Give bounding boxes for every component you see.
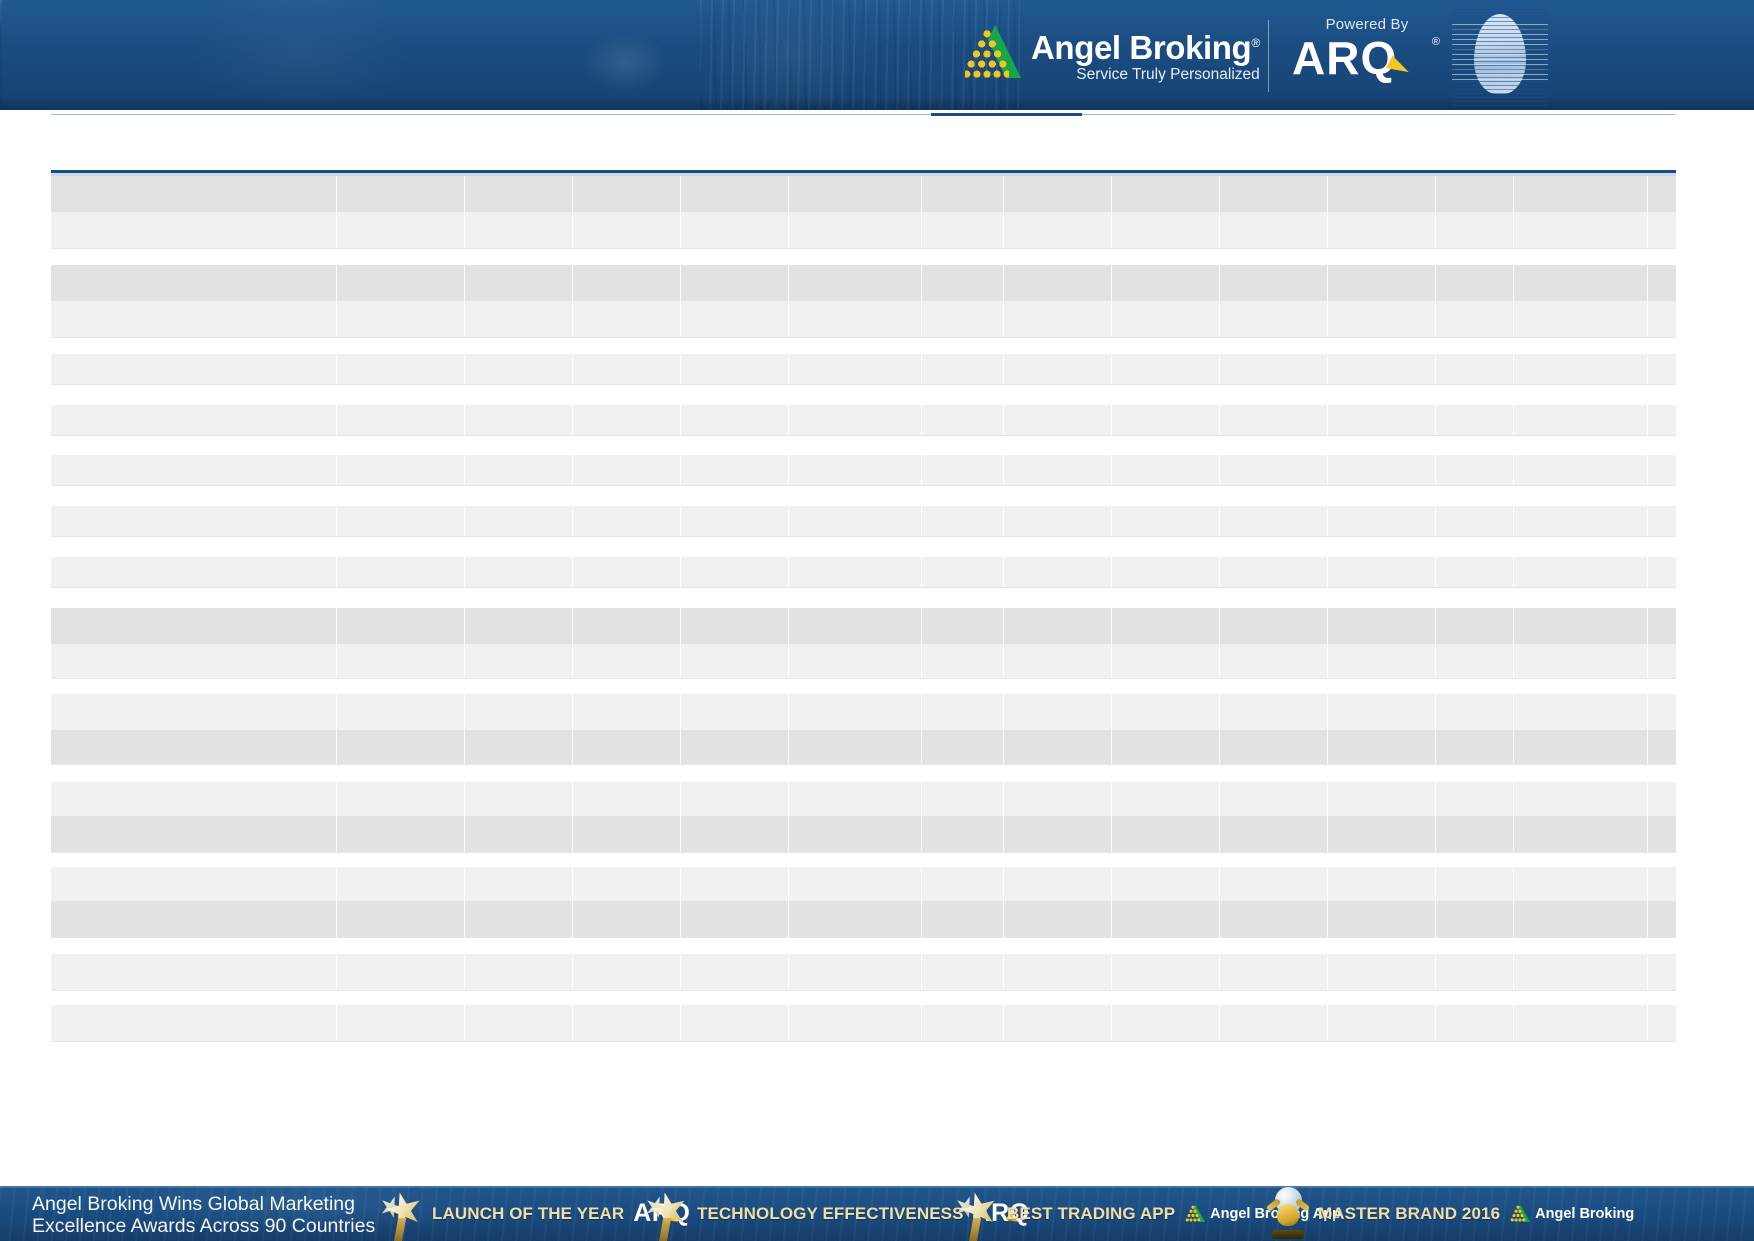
table-row[interactable]: [51, 176, 1676, 212]
table-cell[interactable]: [573, 644, 681, 678]
table-cell[interactable]: [573, 816, 681, 852]
table-cell[interactable]: [681, 901, 789, 937]
table-cell[interactable]: [1112, 1005, 1220, 1041]
table-cell[interactable]: [337, 301, 465, 337]
table-cell[interactable]: [51, 901, 337, 937]
table-cell[interactable]: [1220, 455, 1328, 485]
table-cell[interactable]: [681, 176, 789, 212]
table-cell[interactable]: [1112, 730, 1220, 764]
table-cell[interactable]: [789, 212, 922, 248]
table-cell[interactable]: [1648, 867, 1754, 901]
table-cell[interactable]: [922, 730, 1004, 764]
table-cell[interactable]: [51, 176, 337, 212]
table-cell[interactable]: [922, 782, 1004, 816]
table-cell[interactable]: [1220, 354, 1328, 384]
table-row[interactable]: [51, 265, 1676, 301]
table-cell[interactable]: [1004, 506, 1112, 536]
table-cell[interactable]: [1220, 694, 1328, 730]
table-cell[interactable]: [1648, 730, 1754, 764]
table-cell[interactable]: [573, 608, 681, 644]
table-cell[interactable]: [1112, 455, 1220, 485]
table-cell[interactable]: [1220, 901, 1328, 937]
table-cell[interactable]: [681, 212, 789, 248]
table-cell[interactable]: [1112, 354, 1220, 384]
table-cell[interactable]: [573, 954, 681, 990]
table-row[interactable]: [51, 557, 1676, 587]
header-divider: [1268, 20, 1269, 92]
table-cell[interactable]: [1648, 301, 1754, 337]
table-cell[interactable]: [465, 644, 573, 678]
table-cell[interactable]: [465, 557, 573, 587]
table-cell[interactable]: [573, 301, 681, 337]
table-cell[interactable]: [1328, 730, 1436, 764]
table-cell[interactable]: [1648, 901, 1754, 937]
table-cell[interactable]: [789, 455, 922, 485]
table-row[interactable]: [51, 782, 1676, 816]
table-cell[interactable]: [573, 901, 681, 937]
table-cell[interactable]: [922, 557, 1004, 587]
table-cell[interactable]: [465, 1005, 573, 1041]
table-cell[interactable]: [1004, 901, 1112, 937]
table-cell[interactable]: [1220, 867, 1328, 901]
table-cell[interactable]: [465, 265, 573, 301]
table-cell[interactable]: [1112, 816, 1220, 852]
table-cell[interactable]: [922, 455, 1004, 485]
table-cell[interactable]: [922, 354, 1004, 384]
table-cell[interactable]: [1436, 816, 1514, 852]
arq-wordmark: ARQ ®: [1292, 34, 1442, 82]
table-cell[interactable]: [1004, 301, 1112, 337]
table-cell[interactable]: [51, 301, 337, 337]
table-cell[interactable]: [1220, 212, 1328, 248]
table-cell[interactable]: [465, 730, 573, 764]
table-row-underline: [51, 536, 1676, 537]
table-cell[interactable]: [1220, 816, 1328, 852]
table-row-underline: [51, 990, 1676, 991]
table-cell[interactable]: [1328, 506, 1436, 536]
table-cell[interactable]: [1648, 644, 1754, 678]
table-cell[interactable]: [1112, 644, 1220, 678]
table-row[interactable]: [51, 954, 1676, 990]
table-cell[interactable]: [465, 405, 573, 435]
table-cell[interactable]: [337, 557, 465, 587]
table-cell[interactable]: [1648, 265, 1754, 301]
table-cell[interactable]: [1436, 506, 1514, 536]
table-cell[interactable]: [1328, 557, 1436, 587]
table-cell[interactable]: [789, 608, 922, 644]
table-cell[interactable]: [1112, 506, 1220, 536]
table-cell[interactable]: [1436, 694, 1514, 730]
table-cell[interactable]: [337, 730, 465, 764]
table-cell[interactable]: [1436, 301, 1514, 337]
table-cell[interactable]: [1648, 176, 1754, 212]
table-row[interactable]: [51, 867, 1676, 901]
table-cell[interactable]: [681, 782, 789, 816]
table-cell[interactable]: [1004, 265, 1112, 301]
table-cell[interactable]: [573, 557, 681, 587]
table-cell[interactable]: [51, 265, 337, 301]
table-cell[interactable]: [1514, 506, 1648, 536]
table-row[interactable]: [51, 608, 1676, 644]
table-cell[interactable]: [573, 354, 681, 384]
table-cell[interactable]: [1514, 816, 1648, 852]
table-cell[interactable]: [922, 1005, 1004, 1041]
table-cell[interactable]: [1436, 557, 1514, 587]
table-cell[interactable]: [1220, 557, 1328, 587]
table-row[interactable]: [51, 901, 1676, 937]
table-cell[interactable]: [1436, 644, 1514, 678]
table-cell[interactable]: [573, 212, 681, 248]
table-cell[interactable]: [337, 867, 465, 901]
table-cell[interactable]: [1328, 608, 1436, 644]
table-cell[interactable]: [1514, 212, 1648, 248]
table-cell[interactable]: [465, 782, 573, 816]
table-cell[interactable]: [1328, 782, 1436, 816]
table-cell[interactable]: [1220, 301, 1328, 337]
table-cell[interactable]: [51, 782, 337, 816]
table-cell[interactable]: [1514, 405, 1648, 435]
table-cell[interactable]: [1004, 644, 1112, 678]
table-cell[interactable]: [1328, 405, 1436, 435]
table-cell[interactable]: [1112, 901, 1220, 937]
table-cell[interactable]: [789, 506, 922, 536]
table-cell[interactable]: [1514, 301, 1648, 337]
table-row[interactable]: [51, 694, 1676, 730]
table-cell[interactable]: [51, 954, 337, 990]
table-cell[interactable]: [465, 608, 573, 644]
table-cell[interactable]: [573, 782, 681, 816]
table-cell[interactable]: [922, 644, 1004, 678]
table-cell[interactable]: [789, 354, 922, 384]
table-cell[interactable]: [51, 730, 337, 764]
table-cell[interactable]: [1514, 954, 1648, 990]
table-cell[interactable]: [681, 557, 789, 587]
table-cell[interactable]: [1112, 212, 1220, 248]
table-cell[interactable]: [1514, 644, 1648, 678]
table-cell[interactable]: [1220, 730, 1328, 764]
table-cell[interactable]: [337, 405, 465, 435]
table-cell[interactable]: [1004, 212, 1112, 248]
table-cell[interactable]: [681, 455, 789, 485]
table-cell[interactable]: [1648, 694, 1754, 730]
table-cell[interactable]: [1220, 954, 1328, 990]
table-cell[interactable]: [465, 816, 573, 852]
table-row[interactable]: [51, 212, 1676, 248]
table-cell[interactable]: [51, 557, 337, 587]
table-cell[interactable]: [922, 301, 1004, 337]
table-cell[interactable]: [1648, 455, 1754, 485]
table-cell[interactable]: [1220, 506, 1328, 536]
table-cell[interactable]: [1004, 867, 1112, 901]
table-cell[interactable]: [573, 867, 681, 901]
table-row[interactable]: [51, 506, 1676, 536]
table-row[interactable]: [51, 405, 1676, 435]
table-cell[interactable]: [51, 506, 337, 536]
table-cell[interactable]: [337, 212, 465, 248]
table-row[interactable]: [51, 354, 1676, 384]
table-cell[interactable]: [573, 1005, 681, 1041]
table-cell[interactable]: [1648, 506, 1754, 536]
table-cell[interactable]: [1220, 608, 1328, 644]
arq-logo[interactable]: Powered By ARQ ®: [1292, 16, 1442, 82]
table-cell[interactable]: [1648, 782, 1754, 816]
table-cell[interactable]: [1328, 455, 1436, 485]
table-cell[interactable]: [337, 644, 465, 678]
table-cell[interactable]: [1004, 176, 1112, 212]
table-cell[interactable]: [1514, 694, 1648, 730]
table-cell[interactable]: [337, 694, 465, 730]
table-cell[interactable]: [1328, 301, 1436, 337]
table-cell[interactable]: [573, 265, 681, 301]
table-cell[interactable]: [1112, 176, 1220, 212]
table-cell[interactable]: [1112, 782, 1220, 816]
table-cell[interactable]: [922, 265, 1004, 301]
table-cell[interactable]: [681, 816, 789, 852]
table-cell[interactable]: [1436, 354, 1514, 384]
table-cell[interactable]: [1648, 816, 1754, 852]
table-cell[interactable]: [337, 176, 465, 212]
table-cell[interactable]: [1436, 1005, 1514, 1041]
table-cell[interactable]: [789, 694, 922, 730]
angel-broking-logo[interactable]: Angel Broking® Service Truly Personalize…: [965, 24, 1260, 94]
table-cell[interactable]: [1436, 455, 1514, 485]
header-underline-accent: [931, 113, 1082, 116]
table-cell[interactable]: [573, 730, 681, 764]
table-cell[interactable]: [465, 694, 573, 730]
table-cell[interactable]: [1328, 644, 1436, 678]
table-cell[interactable]: [1220, 405, 1328, 435]
table-cell[interactable]: [1514, 901, 1648, 937]
table-cell[interactable]: [337, 506, 465, 536]
table-cell[interactable]: [1436, 176, 1514, 212]
table-cell[interactable]: [1328, 694, 1436, 730]
table-cell[interactable]: [789, 782, 922, 816]
table-cell[interactable]: [465, 212, 573, 248]
table-cell[interactable]: [681, 265, 789, 301]
table-cell[interactable]: [789, 301, 922, 337]
table-cell[interactable]: [922, 506, 1004, 536]
table-cell[interactable]: [922, 608, 1004, 644]
table-cell[interactable]: [789, 1005, 922, 1041]
table-cell[interactable]: [789, 954, 922, 990]
table-cell[interactable]: [1004, 455, 1112, 485]
table-cell[interactable]: [337, 782, 465, 816]
table-cell[interactable]: [1648, 354, 1754, 384]
table-row[interactable]: [51, 455, 1676, 485]
table-cell[interactable]: [1112, 954, 1220, 990]
table-cell[interactable]: [51, 212, 337, 248]
table-cell[interactable]: [1004, 557, 1112, 587]
table-cell[interactable]: [1648, 212, 1754, 248]
table-cell[interactable]: [1112, 608, 1220, 644]
table-cell[interactable]: [1514, 176, 1648, 212]
table-cell[interactable]: [1514, 867, 1648, 901]
table-cell[interactable]: [922, 212, 1004, 248]
table-cell[interactable]: [1514, 730, 1648, 764]
table-cell[interactable]: [1436, 901, 1514, 937]
table-cell[interactable]: [465, 867, 573, 901]
table-cell[interactable]: [789, 644, 922, 678]
table-cell[interactable]: [1004, 1005, 1112, 1041]
table-cell[interactable]: [573, 405, 681, 435]
table-cell[interactable]: [1648, 954, 1754, 990]
data-table[interactable]: [51, 125, 1676, 1055]
table-cell[interactable]: [681, 1005, 789, 1041]
footer-banner: Angel Broking Wins Global Marketing Exce…: [0, 1186, 1754, 1241]
table-cell[interactable]: [789, 557, 922, 587]
table-cell[interactable]: [465, 954, 573, 990]
table-cell[interactable]: [1004, 954, 1112, 990]
table-cell[interactable]: [922, 954, 1004, 990]
table-cell[interactable]: [1436, 608, 1514, 644]
table-cell[interactable]: [922, 694, 1004, 730]
table-row[interactable]: [51, 730, 1676, 764]
table-cell[interactable]: [465, 455, 573, 485]
table-cell[interactable]: [1514, 455, 1648, 485]
table-cell[interactable]: [1328, 1005, 1436, 1041]
table-cell[interactable]: [789, 176, 922, 212]
table-cell[interactable]: [681, 301, 789, 337]
table-cell[interactable]: [1112, 867, 1220, 901]
table-cell[interactable]: [337, 455, 465, 485]
table-cell[interactable]: [1220, 265, 1328, 301]
table-cell[interactable]: [465, 301, 573, 337]
table-cell[interactable]: [465, 354, 573, 384]
table-cell[interactable]: [681, 608, 789, 644]
table-cell[interactable]: [1436, 405, 1514, 435]
table-cell[interactable]: [51, 644, 337, 678]
table-cell[interactable]: [681, 644, 789, 678]
table-cell[interactable]: [1004, 816, 1112, 852]
table-cell[interactable]: [1004, 730, 1112, 764]
table-cell[interactable]: [1436, 867, 1514, 901]
table-row[interactable]: [51, 644, 1676, 678]
table-cell[interactable]: [465, 506, 573, 536]
table-row[interactable]: [51, 301, 1676, 337]
table-cell[interactable]: [1328, 901, 1436, 937]
table-cell[interactable]: [1004, 405, 1112, 435]
table-cell[interactable]: [1004, 694, 1112, 730]
table-cell[interactable]: [1328, 265, 1436, 301]
table-cell[interactable]: [1112, 301, 1220, 337]
table-cell[interactable]: [1436, 265, 1514, 301]
table-cell[interactable]: [1328, 354, 1436, 384]
table-cell[interactable]: [1220, 1005, 1328, 1041]
award-title: MASTER BRAND 2016: [1318, 1204, 1500, 1224]
table-cell[interactable]: [1648, 557, 1754, 587]
table-cell[interactable]: [337, 354, 465, 384]
table-cell[interactable]: [573, 455, 681, 485]
table-cell[interactable]: [1514, 1005, 1648, 1041]
table-cell[interactable]: [465, 176, 573, 212]
table-cell[interactable]: [681, 354, 789, 384]
table-cell[interactable]: [51, 694, 337, 730]
table-cell[interactable]: [681, 867, 789, 901]
table-cell[interactable]: [1220, 176, 1328, 212]
table-cell[interactable]: [1220, 782, 1328, 816]
table-cell[interactable]: [681, 694, 789, 730]
table-cell[interactable]: [1436, 954, 1514, 990]
table-cell[interactable]: [922, 176, 1004, 212]
table-cell[interactable]: [789, 867, 922, 901]
angel-broking-wordmark: Angel Broking® Service Truly Personalize…: [1031, 24, 1260, 84]
table-cell[interactable]: [1328, 212, 1436, 248]
table-cell[interactable]: [337, 265, 465, 301]
table-cell[interactable]: [789, 730, 922, 764]
table-cell[interactable]: [1004, 354, 1112, 384]
header-banner: Angel Broking® Service Truly Personalize…: [0, 0, 1754, 110]
table-cell[interactable]: [1112, 557, 1220, 587]
table-row-underline: [51, 435, 1676, 436]
table-cell[interactable]: [922, 867, 1004, 901]
table-cell[interactable]: [1648, 608, 1754, 644]
table-cell[interactable]: [465, 901, 573, 937]
table-cell[interactable]: [337, 608, 465, 644]
table-cell[interactable]: [573, 694, 681, 730]
table-cell[interactable]: [1004, 608, 1112, 644]
table-cell[interactable]: [681, 405, 789, 435]
table-cell[interactable]: [1514, 782, 1648, 816]
table-cell[interactable]: [1004, 782, 1112, 816]
table-cell[interactable]: [51, 867, 337, 901]
table-cell[interactable]: [789, 265, 922, 301]
table-cell[interactable]: [337, 901, 465, 937]
table-cell[interactable]: [1328, 954, 1436, 990]
table-cell[interactable]: [1648, 1005, 1754, 1041]
table-cell[interactable]: [1220, 644, 1328, 678]
table-cell[interactable]: [337, 1005, 465, 1041]
table-cell[interactable]: [922, 816, 1004, 852]
table-cell[interactable]: [1514, 557, 1648, 587]
table-cell[interactable]: [51, 608, 337, 644]
table-cell[interactable]: [1328, 176, 1436, 212]
registered-trademark-icon: ®: [1251, 36, 1259, 50]
table-cell[interactable]: [1648, 405, 1754, 435]
table-cell[interactable]: [789, 816, 922, 852]
table-cell[interactable]: [337, 816, 465, 852]
table-row-underline: [51, 337, 1676, 338]
table-cell[interactable]: [337, 954, 465, 990]
table-cell[interactable]: [1436, 782, 1514, 816]
table-cell[interactable]: [1514, 265, 1648, 301]
table-cell[interactable]: [1436, 730, 1514, 764]
table-cell[interactable]: [922, 405, 1004, 435]
table-cell[interactable]: [1328, 816, 1436, 852]
table-cell[interactable]: [789, 405, 922, 435]
table-cell[interactable]: [51, 816, 337, 852]
table-cell[interactable]: [1436, 212, 1514, 248]
table-row[interactable]: [51, 1005, 1676, 1041]
table-cell[interactable]: [573, 506, 681, 536]
table-row[interactable]: [51, 816, 1676, 852]
table-cell[interactable]: [1112, 694, 1220, 730]
table-cell[interactable]: [51, 405, 337, 435]
table-cell[interactable]: [789, 901, 922, 937]
table-cell[interactable]: [681, 730, 789, 764]
table-cell[interactable]: [51, 455, 337, 485]
table-cell[interactable]: [1112, 405, 1220, 435]
table-cell[interactable]: [1514, 354, 1648, 384]
table-cell[interactable]: [1328, 867, 1436, 901]
table-cell[interactable]: [51, 354, 337, 384]
table-cell[interactable]: [922, 901, 1004, 937]
table-cell[interactable]: [1112, 265, 1220, 301]
table-cell[interactable]: [51, 1005, 337, 1041]
table-cell[interactable]: [681, 506, 789, 536]
table-cell[interactable]: [681, 954, 789, 990]
table-cell[interactable]: [573, 176, 681, 212]
table-cell[interactable]: [1514, 608, 1648, 644]
